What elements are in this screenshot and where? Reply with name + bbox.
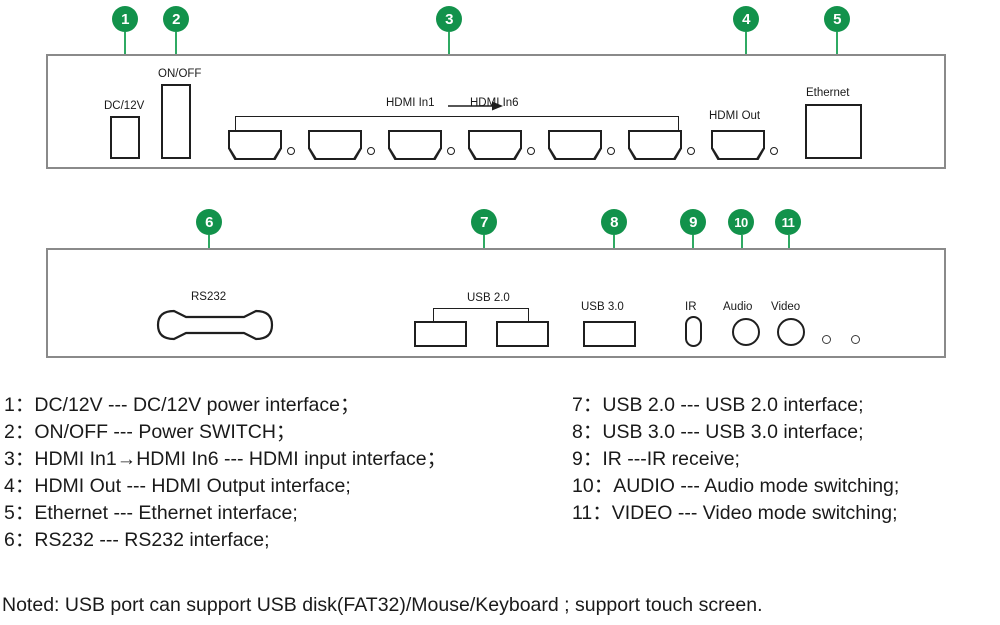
legend-item-2: 2： ON/OFF --- Power SWITCH； bbox=[4, 419, 446, 446]
legend-number: 5： bbox=[4, 500, 34, 527]
callout-badge-10: 10 bbox=[728, 209, 754, 235]
hdmi-in-screw-4 bbox=[527, 147, 535, 155]
legend-item-7: 7： USB 2.0 --- USB 2.0 interface; bbox=[572, 392, 899, 419]
legend-item-6: 6： RS232 --- RS232 interface; bbox=[4, 527, 446, 554]
legend-right-column: 7： USB 2.0 --- USB 2.0 interface; 8： USB… bbox=[572, 392, 899, 527]
legend-text: Ethernet --- Ethernet interface; bbox=[34, 500, 297, 527]
legend-number: 10： bbox=[572, 473, 613, 500]
hdmi-out-screw bbox=[770, 147, 778, 155]
callout-badge-7: 7 bbox=[471, 209, 497, 235]
ir-label: IR bbox=[685, 302, 697, 314]
callout-badge-11: 11 bbox=[775, 209, 801, 235]
hdmi-in-port-4[interactable] bbox=[468, 130, 522, 160]
legend-text: USB 2.0 --- USB 2.0 interface; bbox=[602, 392, 863, 419]
legend-text: USB 3.0 --- USB 3.0 interface; bbox=[602, 419, 863, 446]
on-off-label: ON/OFF bbox=[158, 69, 201, 81]
hdmi-out-port[interactable] bbox=[711, 130, 765, 160]
callout-badge-8: 8 bbox=[601, 209, 627, 235]
legend-text: RS232 --- RS232 interface; bbox=[34, 527, 269, 554]
legend-text: VIDEO --- Video mode switching; bbox=[612, 500, 898, 527]
ethernet-label: Ethernet bbox=[806, 88, 849, 100]
hdmi-in-screw-1 bbox=[287, 147, 295, 155]
usb-support-note: Noted: USB port can support USB disk(FAT… bbox=[2, 592, 763, 618]
status-led-2 bbox=[851, 335, 860, 344]
hdmi-in-screw-5 bbox=[607, 147, 615, 155]
dc-12v-label: DC/12V bbox=[104, 101, 144, 113]
legend-item-1: 1： DC/12V --- DC/12V power interface； bbox=[4, 392, 446, 419]
legend-number: 3： bbox=[4, 446, 34, 473]
hdmi-in-port-2[interactable] bbox=[308, 130, 362, 160]
hdmi-in-port-6[interactable] bbox=[628, 130, 682, 160]
legend-item-5: 5： Ethernet --- Ethernet interface; bbox=[4, 500, 446, 527]
hdmi-in-port-3[interactable] bbox=[388, 130, 442, 160]
legend-number: 6： bbox=[4, 527, 34, 554]
hdmi-in-screw-6 bbox=[687, 147, 695, 155]
callout-badge-2: 2 bbox=[163, 6, 189, 32]
hdmi-in-screw-2 bbox=[367, 147, 375, 155]
legend-text: DC/12V --- DC/12V power interface； bbox=[34, 392, 359, 419]
ir-receiver-window bbox=[685, 316, 702, 347]
rear-panel-body: RS232 USB 2.0 USB 3.0 IR Audio Video bbox=[46, 248, 946, 358]
front-panel-body: DC/12V ON/OFF HDMI In1 HDMI In6 HDMI Out bbox=[46, 54, 946, 169]
hdmi-in-last-label: HDMI In6 bbox=[470, 98, 519, 110]
video-label: Video bbox=[771, 302, 800, 314]
video-mode-button[interactable] bbox=[777, 318, 805, 346]
hdmi-in-screw-3 bbox=[447, 147, 455, 155]
legend-text: AUDIO --- Audio mode switching; bbox=[613, 473, 899, 500]
callout-badge-1: 1 bbox=[112, 6, 138, 32]
callout-badge-5: 5 bbox=[824, 6, 850, 32]
usb-3-0-port[interactable] bbox=[583, 321, 636, 347]
status-led-1 bbox=[822, 335, 831, 344]
usb-2-0-port-2[interactable] bbox=[496, 321, 549, 347]
legend-item-9: 9： IR ---IR receive; bbox=[572, 446, 899, 473]
device-rear-panel-diagram: 1 2 3 4 5 6 7 8 9 10 11 DC/12V ON/OFF HD… bbox=[0, 0, 1000, 625]
callout-badge-6: 6 bbox=[196, 209, 222, 235]
ethernet-port[interactable] bbox=[805, 104, 862, 159]
callout-badge-4: 4 bbox=[733, 6, 759, 32]
hdmi-in-port-5[interactable] bbox=[548, 130, 602, 160]
callout-badge-9: 9 bbox=[680, 209, 706, 235]
audio-mode-button[interactable] bbox=[732, 318, 760, 346]
usb-2-0-bracket bbox=[433, 308, 529, 321]
legend-number: 8： bbox=[572, 419, 602, 446]
legend-number: 4： bbox=[4, 473, 34, 500]
hdmi-in-first-label: HDMI In1 bbox=[386, 98, 435, 110]
legend-number: 2： bbox=[4, 419, 34, 446]
legend-item-4: 4： HDMI Out --- HDMI Output interface; bbox=[4, 473, 446, 500]
legend-item-11: 11： VIDEO --- Video mode switching; bbox=[572, 500, 899, 527]
legend-number: 11： bbox=[572, 500, 612, 527]
usb-3-0-label: USB 3.0 bbox=[581, 302, 624, 314]
legend-item-8: 8： USB 3.0 --- USB 3.0 interface; bbox=[572, 419, 899, 446]
on-off-switch[interactable] bbox=[161, 84, 191, 159]
hdmi-in-port-1[interactable] bbox=[228, 130, 282, 160]
rs232-connector[interactable] bbox=[156, 307, 274, 343]
callout-badge-3: 3 bbox=[436, 6, 462, 32]
legend-text: ON/OFF --- Power SWITCH； bbox=[34, 419, 295, 446]
hdmi-inputs-bracket bbox=[235, 116, 679, 130]
legend-text: HDMI Out --- HDMI Output interface; bbox=[34, 473, 350, 500]
legend-number: 1： bbox=[4, 392, 34, 419]
legend-number: 9： bbox=[572, 446, 602, 473]
dc-12v-jack[interactable] bbox=[110, 116, 140, 159]
usb-2-0-port-1[interactable] bbox=[414, 321, 467, 347]
legend-text: IR ---IR receive; bbox=[602, 446, 740, 473]
legend-number: 7： bbox=[572, 392, 602, 419]
rs232-label: RS232 bbox=[191, 292, 226, 304]
audio-label: Audio bbox=[723, 302, 752, 314]
legend-item-3: 3： HDMI In1→HDMI In6 --- HDMI input inte… bbox=[4, 446, 446, 473]
legend-item-10: 10： AUDIO --- Audio mode switching; bbox=[572, 473, 899, 500]
hdmi-out-label: HDMI Out bbox=[709, 111, 760, 123]
legend-text: HDMI In1→HDMI In6 --- HDMI input interfa… bbox=[34, 446, 446, 473]
legend-left-column: 1： DC/12V --- DC/12V power interface； 2：… bbox=[4, 392, 446, 554]
usb-2-0-label: USB 2.0 bbox=[467, 293, 510, 305]
